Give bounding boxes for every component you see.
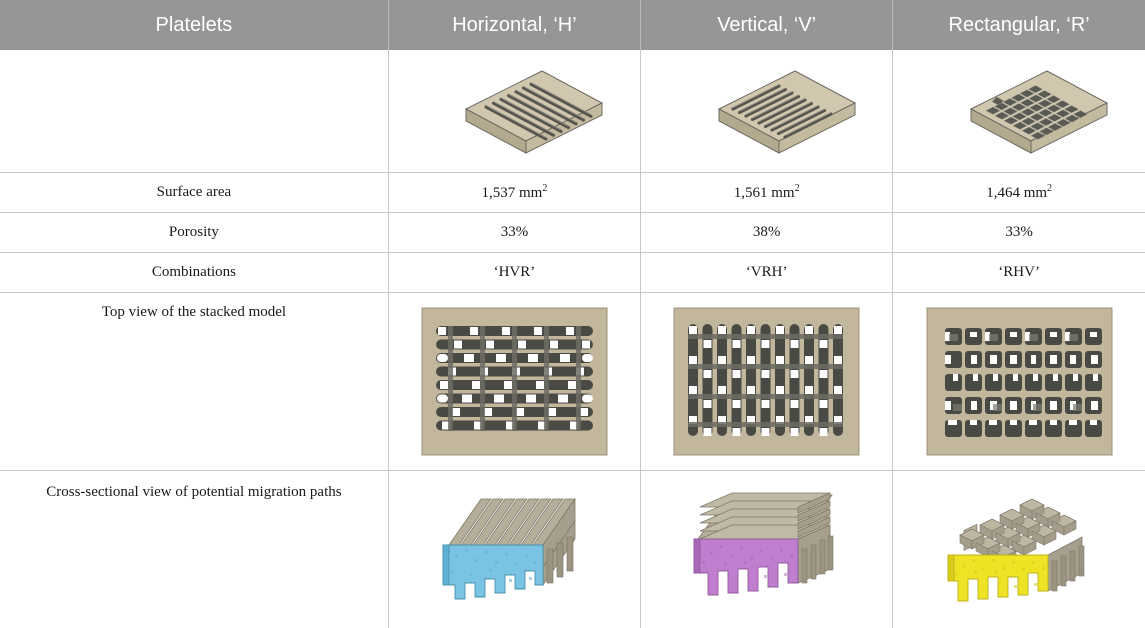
platelets-comparison-table: Platelets Horizontal, ‘H’ Vertical, ‘V’ … (0, 0, 1145, 628)
cell-model-rectangular (893, 50, 1145, 173)
platelet-vertical-3d-model-icon (667, 57, 867, 165)
cell-surface-area-vertical: 1,561 mm2 (641, 173, 893, 213)
cell-model-vertical (641, 50, 893, 173)
row-label-model (0, 50, 388, 173)
table-body: Surface area 1,537 mm2 1,561 mm2 1,464 m… (0, 50, 1145, 628)
cell-combinations-horizontal: ‘HVR’ (388, 253, 640, 293)
row-label-porosity: Porosity (0, 213, 388, 253)
row-label-top-view: Top view of the stacked model (0, 293, 388, 471)
cell-porosity-rectangular: 33% (893, 213, 1145, 253)
cell-cross-section-rectangular (893, 471, 1145, 628)
row-label-combinations: Combinations (0, 253, 388, 293)
cell-porosity-horizontal: 33% (388, 213, 640, 253)
table-row-cross-section: Cross-sectional view of potential migrat… (0, 471, 1145, 628)
cell-top-view-rectangular (893, 293, 1145, 471)
header-cell-rectangular: Rectangular, ‘R’ (893, 0, 1145, 50)
cell-surface-area-rectangular: 1,464 mm2 (893, 173, 1145, 213)
cross-section-vertical-paths-icon (672, 489, 862, 611)
cell-combinations-rectangular: ‘RHV’ (893, 253, 1145, 293)
table-row-porosity: Porosity 33% 38% 33% (0, 213, 1145, 253)
table-header: Platelets Horizontal, ‘H’ Vertical, ‘V’ … (0, 0, 1145, 50)
superscript: 2 (795, 183, 800, 194)
table-row-combinations: Combinations ‘HVR’ ‘VRH’ ‘RHV’ (0, 253, 1145, 293)
header-cell-vertical: Vertical, ‘V’ (641, 0, 893, 50)
row-label-surface-area: Surface area (0, 173, 388, 213)
row-label-cross-section: Cross-sectional view of potential migrat… (0, 471, 388, 628)
value-text: 1,537 mm (482, 185, 543, 201)
top-view-horizontal-stack-icon (418, 304, 611, 459)
top-view-vertical-stack-icon (670, 304, 863, 459)
platelet-rectangular-3d-model-icon (919, 57, 1119, 165)
top-view-rectangular-stack-icon (923, 304, 1116, 459)
table-row-model (0, 50, 1145, 173)
cell-porosity-vertical: 38% (641, 213, 893, 253)
value-text: 1,561 mm (734, 185, 795, 201)
header-cell-horizontal: Horizontal, ‘H’ (388, 0, 640, 50)
cell-top-view-horizontal (388, 293, 640, 471)
cell-top-view-vertical (641, 293, 893, 471)
superscript: 2 (1047, 183, 1052, 194)
cell-cross-section-horizontal (388, 471, 640, 628)
table-row-top-view: Top view of the stacked model (0, 293, 1145, 471)
platelet-horizontal-3d-model-icon (414, 57, 614, 165)
cross-section-horizontal-paths-icon (419, 489, 609, 611)
superscript: 2 (542, 183, 547, 194)
cell-surface-area-horizontal: 1,537 mm2 (388, 173, 640, 213)
cell-combinations-vertical: ‘VRH’ (641, 253, 893, 293)
header-cell-platelets: Platelets (0, 0, 388, 50)
cell-model-horizontal (388, 50, 640, 173)
cell-cross-section-vertical (641, 471, 893, 628)
table-row-surface-area: Surface area 1,537 mm2 1,561 mm2 1,464 m… (0, 173, 1145, 213)
cross-section-rectangular-paths-icon (924, 489, 1114, 611)
header-row: Platelets Horizontal, ‘H’ Vertical, ‘V’ … (0, 0, 1145, 50)
value-text: 1,464 mm (986, 185, 1047, 201)
